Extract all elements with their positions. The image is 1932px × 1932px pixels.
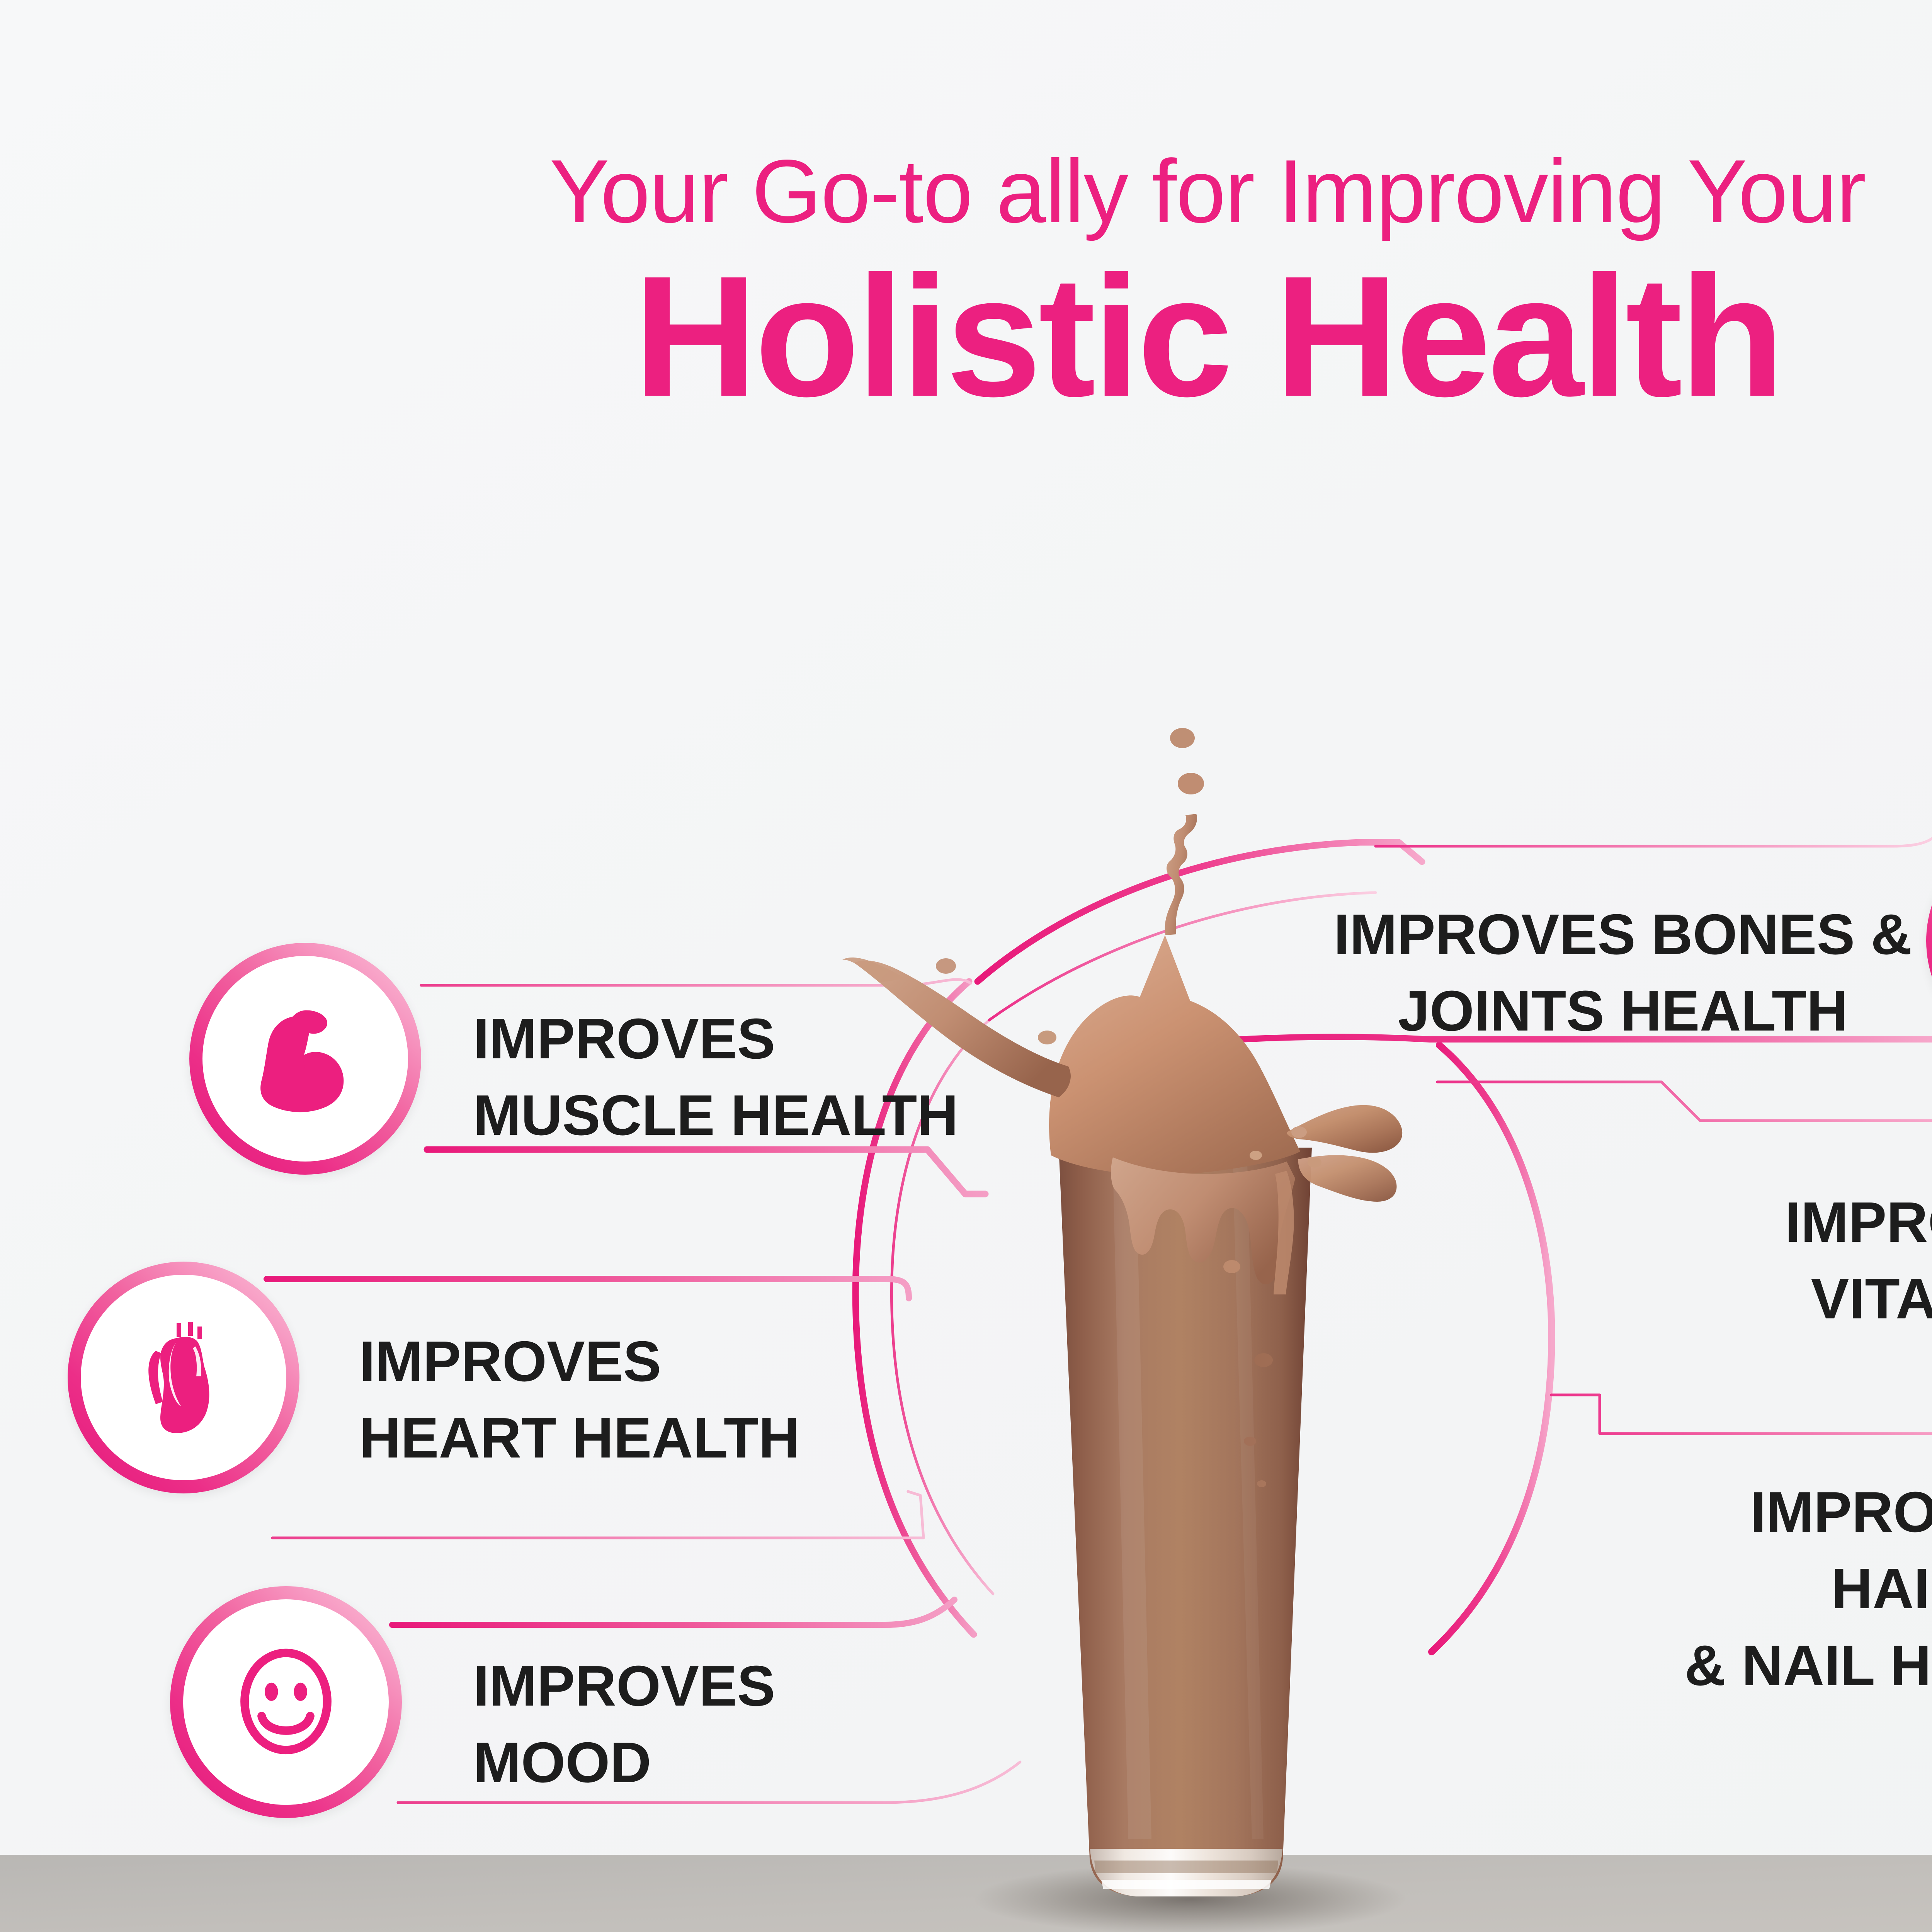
badge-inner [81,1275,286,1480]
droplet [1244,1437,1256,1446]
benefit-label-vitality: IMPROVES VITALITY [1762,1184,1932,1338]
droplet [1308,1157,1321,1168]
benefit-label-heart: IMPROVES HEART HEALTH [359,1323,900,1477]
splash-crown [1049,935,1300,1175]
badge-inner [202,956,408,1162]
droplet [1170,728,1195,748]
droplet [1223,1260,1240,1273]
infographic-canvas: Your Go-to ally for Improving Your Holis… [0,0,1932,1932]
droplet [1250,1151,1262,1160]
smiley-face-icon [224,1638,348,1766]
droplet [1257,1480,1266,1487]
badge-mood[interactable] [170,1586,402,1818]
badge-inner [183,1599,389,1805]
droplet [1291,1126,1307,1138]
droplet [1178,773,1204,794]
benefit-label-muscle: IMPROVES MUSCLE HEALTH [473,1001,1014,1154]
splash-stream [1165,814,1197,935]
badge-muscle[interactable] [189,943,421,1175]
badge-heart[interactable] [68,1262,299,1493]
benefit-label-hair-nail: IMPROVES HAIR & NAIL HEALTH [1673,1474,1932,1704]
droplet [936,958,956,974]
benefit-label-mood: IMPROVES MOOD [473,1648,1014,1801]
flexed-bicep-icon [241,995,369,1122]
anatomical-heart-icon [126,1314,241,1441]
droplet [1038,1031,1056,1044]
benefit-label-bones-joints: IMPROVES BONES & JOINTS HEALTH [1329,896,1917,1050]
droplet [1254,1353,1273,1367]
